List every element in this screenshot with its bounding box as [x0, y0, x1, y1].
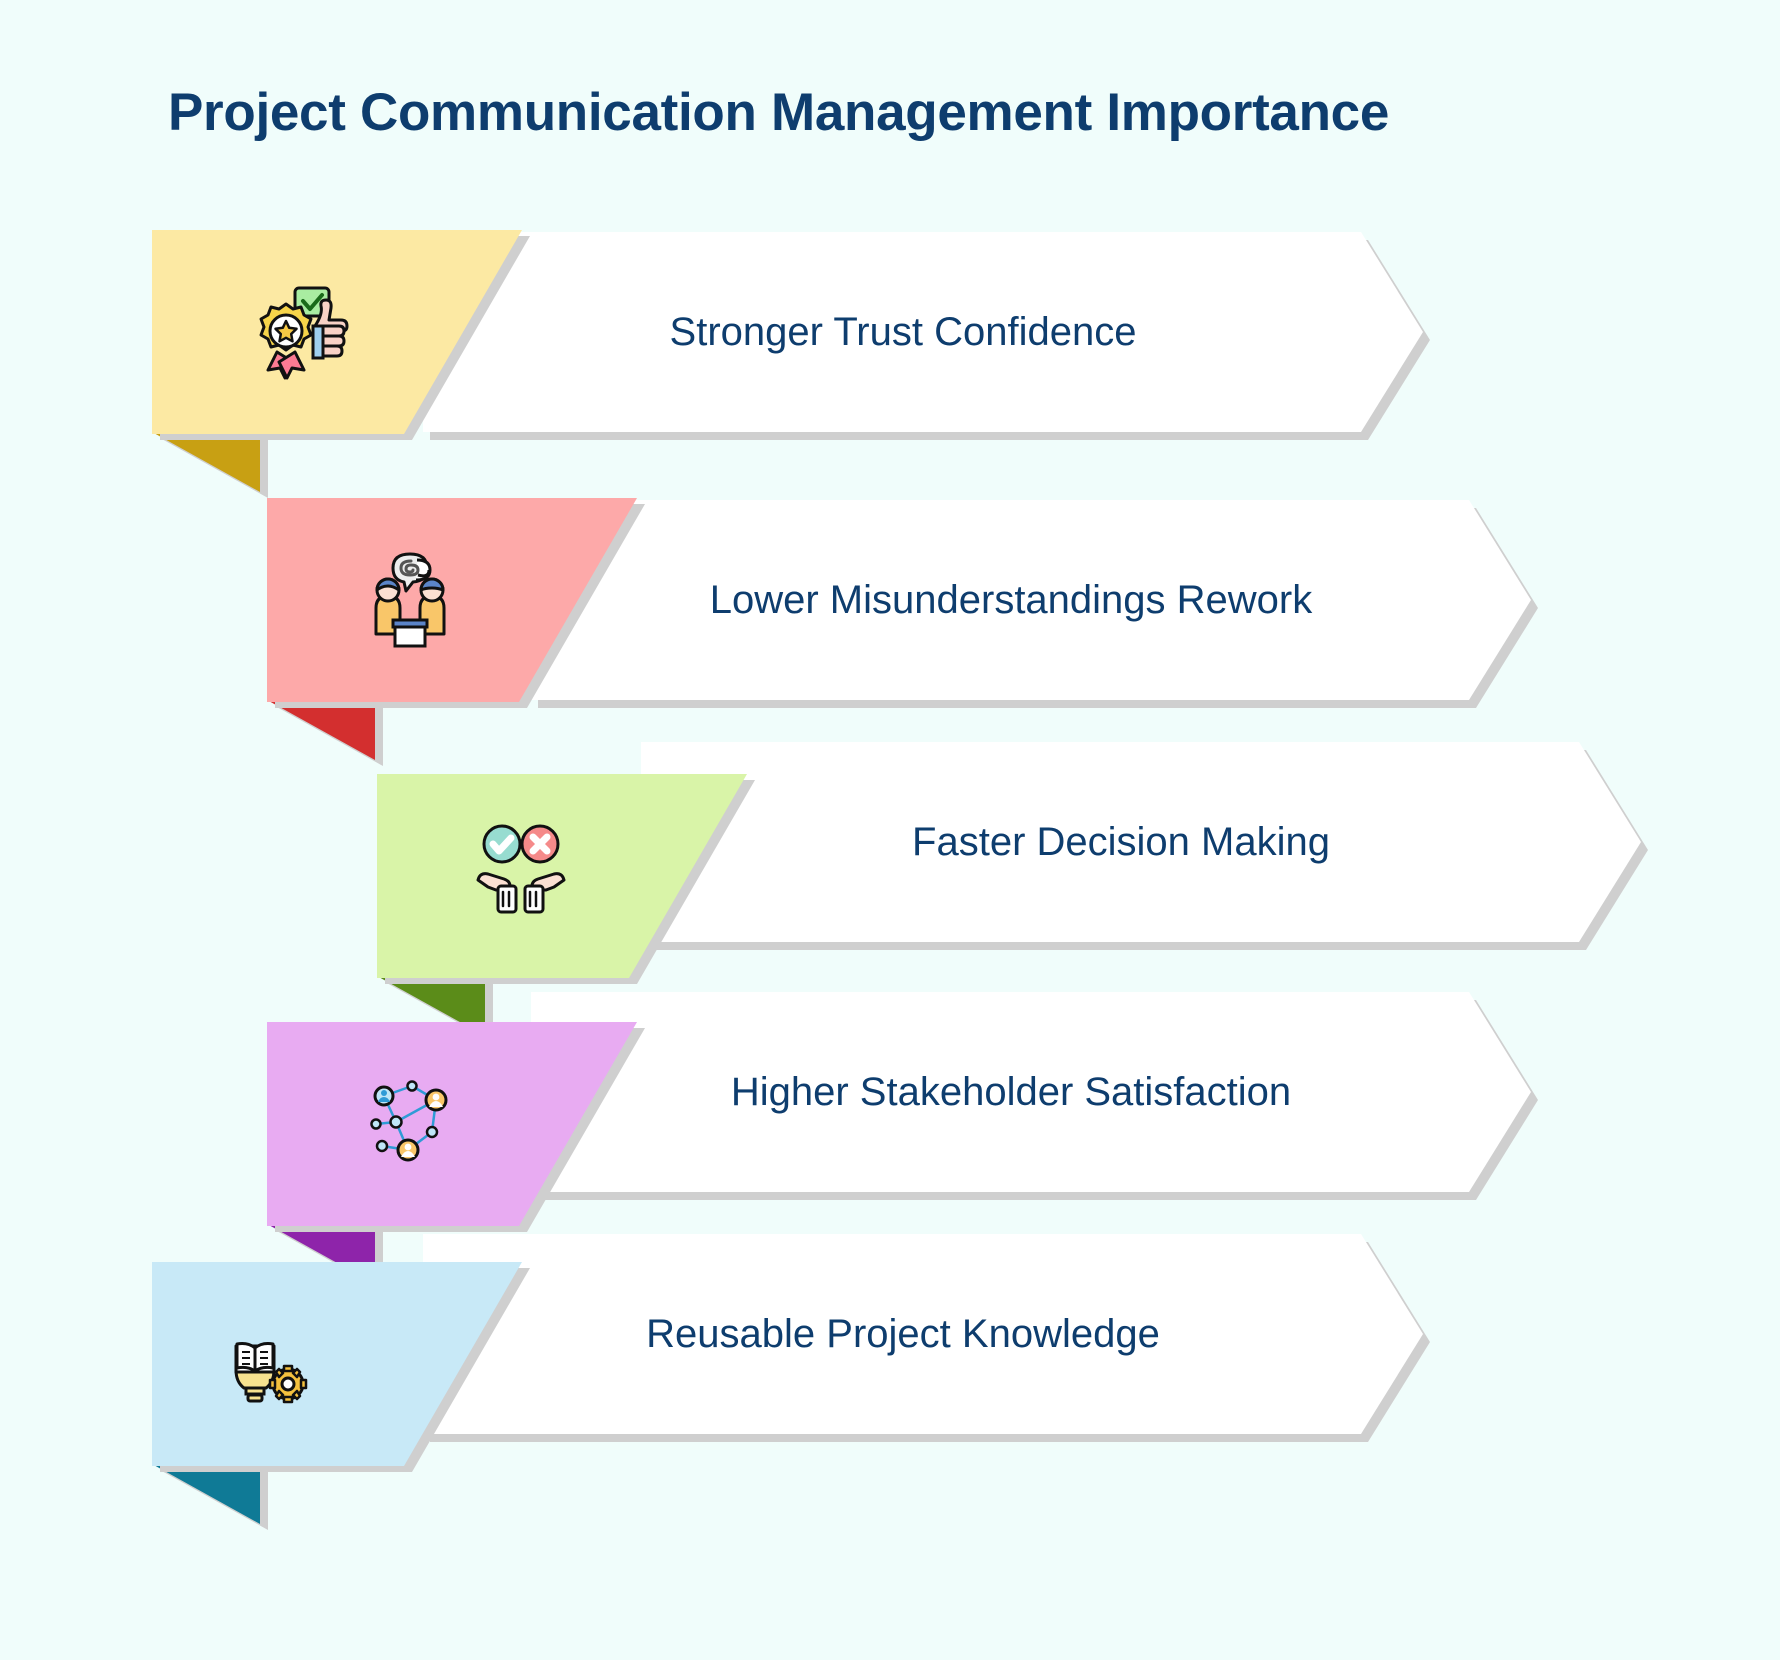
banner-label: Stronger Trust Confidence	[423, 232, 1423, 432]
page-title: Project Communication Management Importa…	[168, 82, 1389, 143]
stakeholder-network-nodes-icon	[362, 1072, 458, 1168]
hands-check-cross-decision-icon	[472, 822, 568, 918]
banner-label: Faster Decision Making	[641, 742, 1641, 942]
award-badge-thumbs-up-icon	[247, 284, 343, 380]
banner-label: Lower Misunderstandings Rework	[531, 500, 1531, 700]
infographic-canvas: Project Communication Management Importa…	[0, 0, 1780, 1660]
banner-label: Higher Stakeholder Satisfaction	[531, 992, 1531, 1192]
book-lightbulb-gear-knowledge-icon	[216, 1312, 312, 1408]
banner-label: Reusable Project Knowledge	[423, 1234, 1423, 1434]
two-people-tangled-speech-bubble-icon	[362, 552, 458, 648]
